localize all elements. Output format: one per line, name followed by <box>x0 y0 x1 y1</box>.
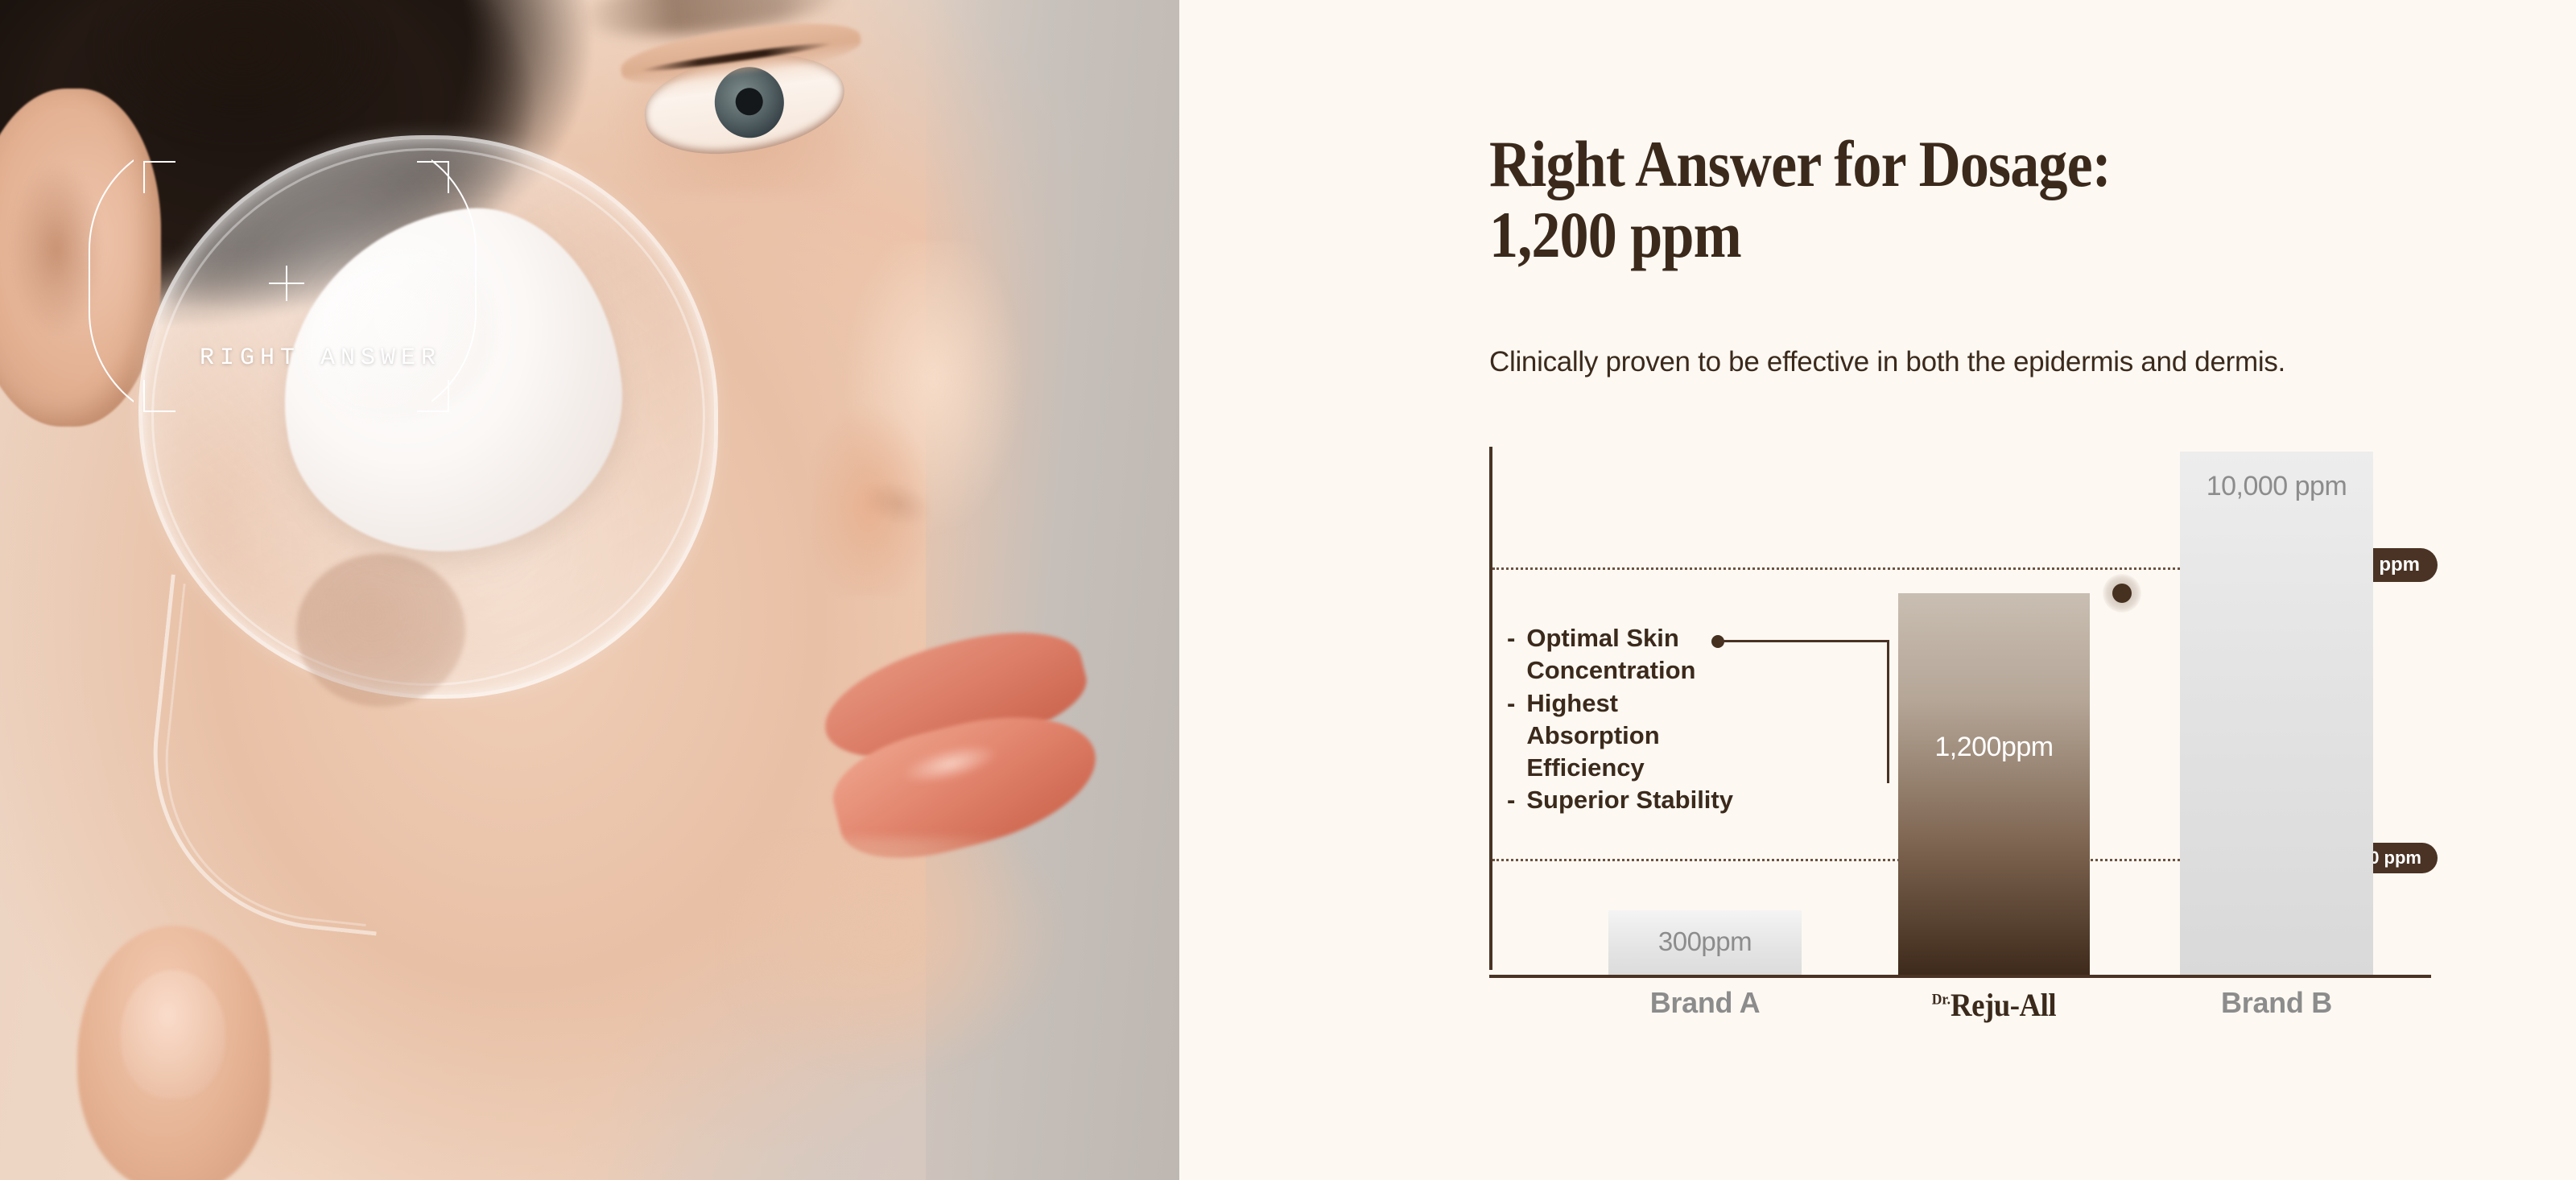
clear-patch-device <box>138 135 718 747</box>
nose <box>813 241 1055 596</box>
brand-name: Reju-All <box>1951 987 2056 1023</box>
annotation-marker-dot <box>2112 584 2132 603</box>
bar-brand-a: 300ppm <box>1608 910 1802 975</box>
brand-prefix: Dr. <box>1932 992 1951 1009</box>
bullet-dash: - <box>1507 784 1515 816</box>
category-label-dr-reju-all: Dr.Reju-All <box>1906 986 2083 1024</box>
bullet-dash: - <box>1507 687 1515 720</box>
dosage-bar-chart: 2,000 ppm 500 ppm 300ppm 1,200ppm 10,000… <box>1489 447 2431 978</box>
ear-inner-shadow <box>8 161 105 338</box>
list-item: - Optimal Skin Concentration <box>1507 622 1740 687</box>
bullet-text: Highest Absorption Efficiency <box>1526 687 1740 785</box>
bullet-text: Superior Stability <box>1526 784 1733 816</box>
content-panel: Right Answer for Dosage: 1,200 ppm Clini… <box>1179 0 2576 1180</box>
chart-category-labels: Brand A Dr.Reju-All Brand B <box>1489 986 2431 1034</box>
bar-value-brand-b: 10,000 ppm <box>2180 471 2373 502</box>
product-photo-panel: RIGHT ANSWER <box>0 0 1179 1180</box>
category-label-brand-a: Brand A <box>1608 986 1802 1020</box>
annotation-leader-vertical <box>1887 640 1889 783</box>
list-item: - Highest Absorption Efficiency <box>1507 687 1740 785</box>
bar-brand-b: 10,000 ppm <box>2180 452 2373 975</box>
annotation-bullet-list: - Optimal Skin Concentration - Highest A… <box>1507 622 1740 817</box>
bar-value-brand-a: 300ppm <box>1608 926 1802 957</box>
bar-dr-reju-all: 1,200ppm <box>1898 593 2090 975</box>
bullet-text: Optimal Skin Concentration <box>1526 622 1740 687</box>
page-title: Right Answer for Dosage: 1,200 ppm <box>1489 129 2111 270</box>
page-subtitle: Clinically proven to be effective in bot… <box>1489 346 2285 378</box>
bar-value-dr-reju-all: 1,200ppm <box>1898 732 2090 763</box>
category-label-brand-b: Brand B <box>2180 986 2373 1020</box>
chin <box>724 837 1175 1180</box>
list-item: - Superior Stability <box>1507 784 1740 816</box>
thumbnail <box>121 970 225 1099</box>
chart-y-axis <box>1489 447 1492 970</box>
annotation-leader-horizontal <box>1719 640 1889 642</box>
chart-x-axis <box>1489 975 2431 978</box>
bullet-dash: - <box>1507 622 1515 654</box>
